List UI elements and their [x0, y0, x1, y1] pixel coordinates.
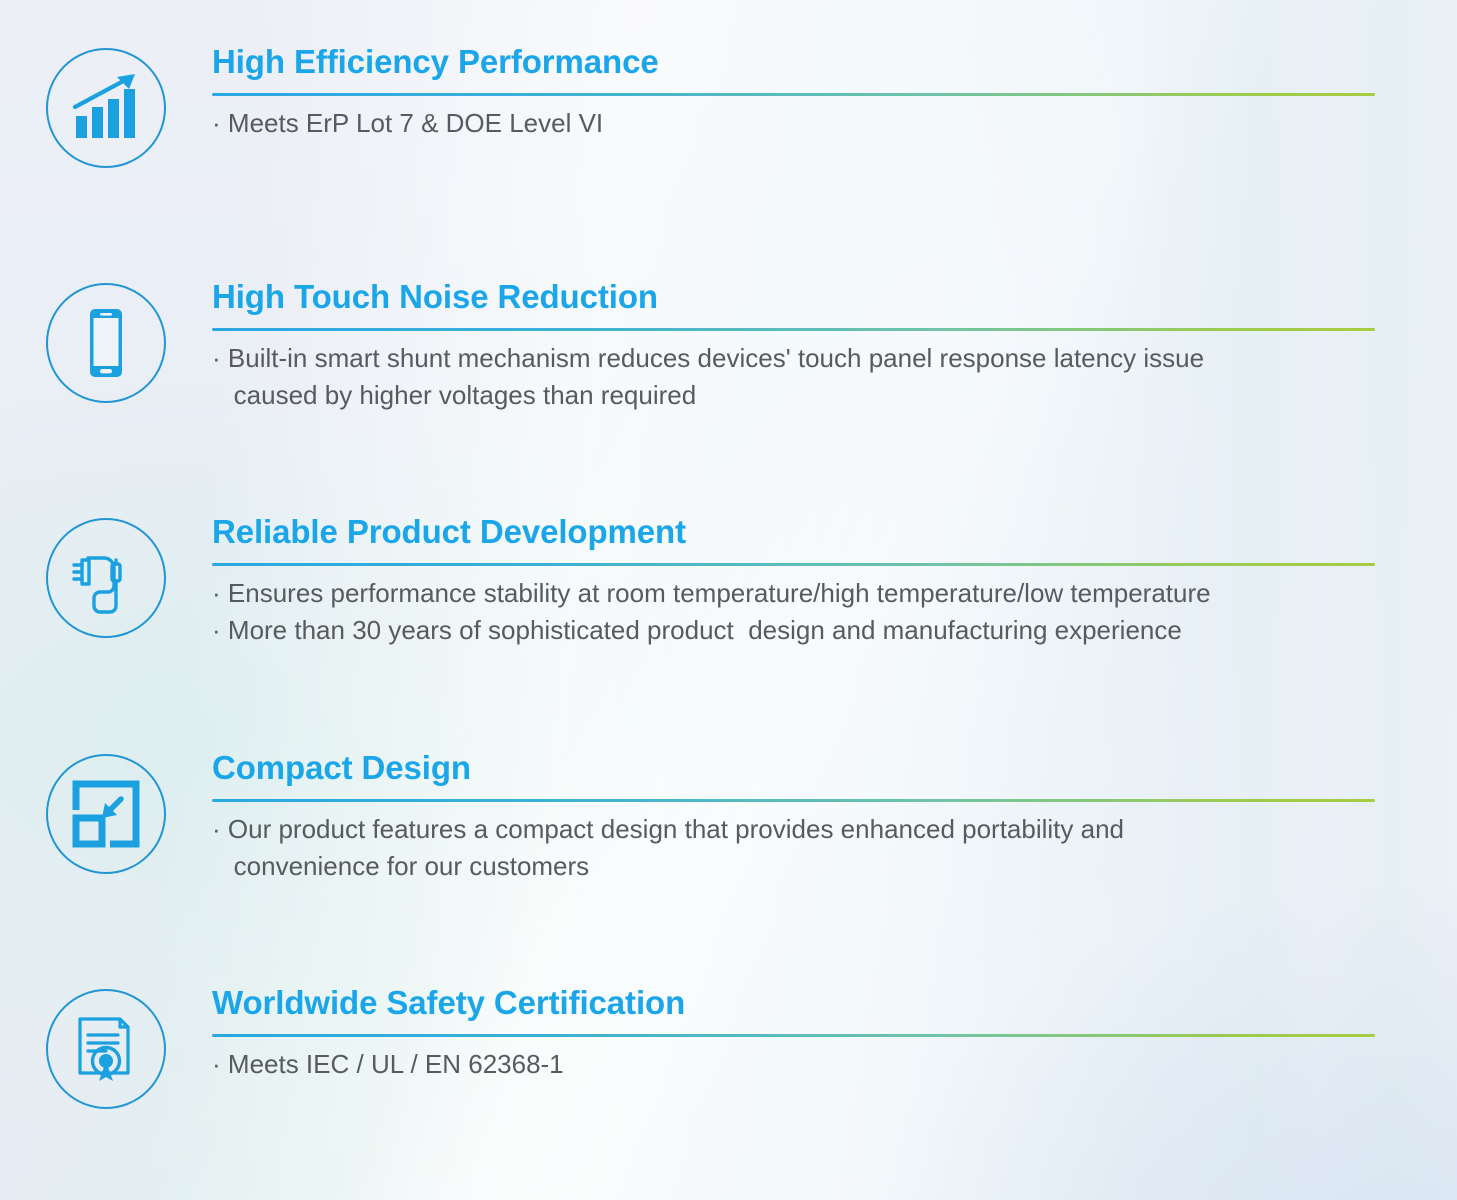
feature-icon-container: [0, 44, 212, 168]
feature-divider: [212, 563, 1375, 566]
bullet-marker: ·: [212, 578, 221, 608]
feature-body: High Efficiency Performance · Meets ErP …: [212, 44, 1457, 142]
icon-circle-frame: [46, 283, 166, 403]
certificate-seal-icon: [68, 1011, 144, 1087]
bullet-text: Our product features a compact design th…: [212, 814, 1124, 881]
feature-list-page: High Efficiency Performance · Meets ErP …: [0, 0, 1457, 1200]
bullet-item: · Our product features a compact design …: [212, 811, 1375, 885]
feature-icon-container: [0, 279, 212, 403]
bullet-item: · Meets IEC / UL / EN 62368-1: [212, 1046, 1375, 1083]
feature-icon-container: [0, 514, 212, 638]
feature-title: Compact Design: [212, 750, 1375, 786]
feature-body: Worldwide Safety Certification · Meets I…: [212, 985, 1457, 1083]
feature-bullet-list: · Built-in smart shunt mechanism reduces…: [212, 340, 1375, 414]
icon-circle-frame: [46, 754, 166, 874]
feature-item: High Efficiency Performance · Meets ErP …: [0, 44, 1457, 168]
icon-circle-frame: [46, 518, 166, 638]
feature-body: Compact Design · Our product features a …: [212, 750, 1457, 884]
feature-divider: [212, 1034, 1375, 1037]
feature-item: High Touch Noise Reduction · Built-in sm…: [0, 279, 1457, 413]
feature-divider: [212, 799, 1375, 802]
bullet-text: More than 30 years of sophisticated prod…: [228, 615, 1182, 645]
feature-item: Worldwide Safety Certification · Meets I…: [0, 985, 1457, 1109]
feature-bullet-list: · Our product features a compact design …: [212, 811, 1375, 885]
smartphone-icon: [67, 304, 145, 382]
feature-divider: [212, 93, 1375, 96]
feature-title: High Touch Noise Reduction: [212, 279, 1375, 315]
feature-divider: [212, 328, 1375, 331]
feature-title: High Efficiency Performance: [212, 44, 1375, 80]
feature-icon-container: [0, 985, 212, 1109]
feature-title: Reliable Product Development: [212, 514, 1375, 550]
feature-body: High Touch Noise Reduction · Built-in sm…: [212, 279, 1457, 413]
bullet-item: · More than 30 years of sophisticated pr…: [212, 612, 1375, 649]
feature-bullet-list: · Meets ErP Lot 7 & DOE Level VI: [212, 105, 1375, 142]
bullet-text: Meets IEC / UL / EN 62368-1: [228, 1049, 564, 1079]
bullet-text: Built-in smart shunt mechanism reduces d…: [212, 343, 1204, 410]
feature-item: Compact Design · Our product features a …: [0, 750, 1457, 884]
bullet-marker: ·: [212, 615, 221, 645]
compact-resize-icon: [69, 777, 143, 851]
bullet-text: Meets ErP Lot 7 & DOE Level VI: [228, 108, 603, 138]
bullet-marker: ·: [212, 108, 221, 138]
feature-list: High Efficiency Performance · Meets ErP …: [0, 0, 1457, 1200]
bullet-item: · Built-in smart shunt mechanism reduces…: [212, 340, 1375, 414]
feature-title: Worldwide Safety Certification: [212, 985, 1375, 1021]
bullet-marker: ·: [212, 1049, 221, 1079]
bullet-marker: ·: [212, 814, 221, 844]
bullet-item: · Meets ErP Lot 7 & DOE Level VI: [212, 105, 1375, 142]
power-adapter-icon: [66, 538, 146, 618]
feature-bullet-list: · Meets IEC / UL / EN 62368-1: [212, 1046, 1375, 1083]
bar-chart-growth-icon: [67, 69, 145, 147]
bullet-item: · Ensures performance stability at room …: [212, 575, 1375, 612]
feature-icon-container: [0, 750, 212, 874]
bullet-marker: ·: [212, 343, 221, 373]
icon-circle-frame: [46, 989, 166, 1109]
icon-circle-frame: [46, 48, 166, 168]
feature-bullet-list: · Ensures performance stability at room …: [212, 575, 1375, 649]
feature-body: Reliable Product Development · Ensures p…: [212, 514, 1457, 648]
feature-item: Reliable Product Development · Ensures p…: [0, 514, 1457, 648]
bullet-text: Ensures performance stability at room te…: [228, 578, 1211, 608]
